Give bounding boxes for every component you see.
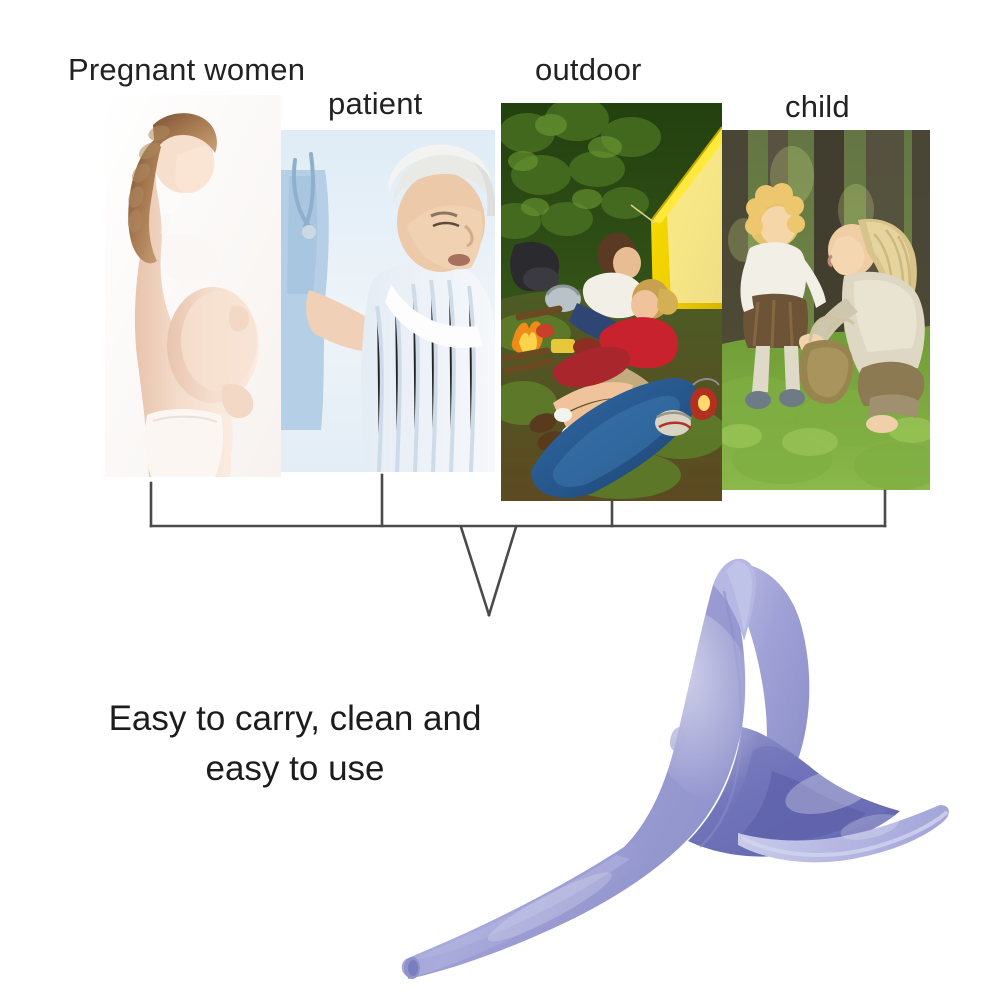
- use-case-photo-child: [722, 130, 930, 490]
- product-image-urination-funnel: [400, 555, 970, 985]
- product-infographic: Pregnant women patient outdoor child: [0, 0, 1000, 1000]
- use-case-label-pregnant-women: Pregnant women: [68, 54, 305, 85]
- use-case-label-patient: patient: [328, 88, 422, 119]
- use-case-photo-patient: [281, 130, 495, 472]
- use-case-photo-outdoor: [501, 103, 722, 501]
- use-case-label-outdoor: outdoor: [535, 54, 642, 85]
- use-case-photo-pregnant-women: [105, 95, 281, 477]
- use-case-label-child: child: [785, 91, 850, 122]
